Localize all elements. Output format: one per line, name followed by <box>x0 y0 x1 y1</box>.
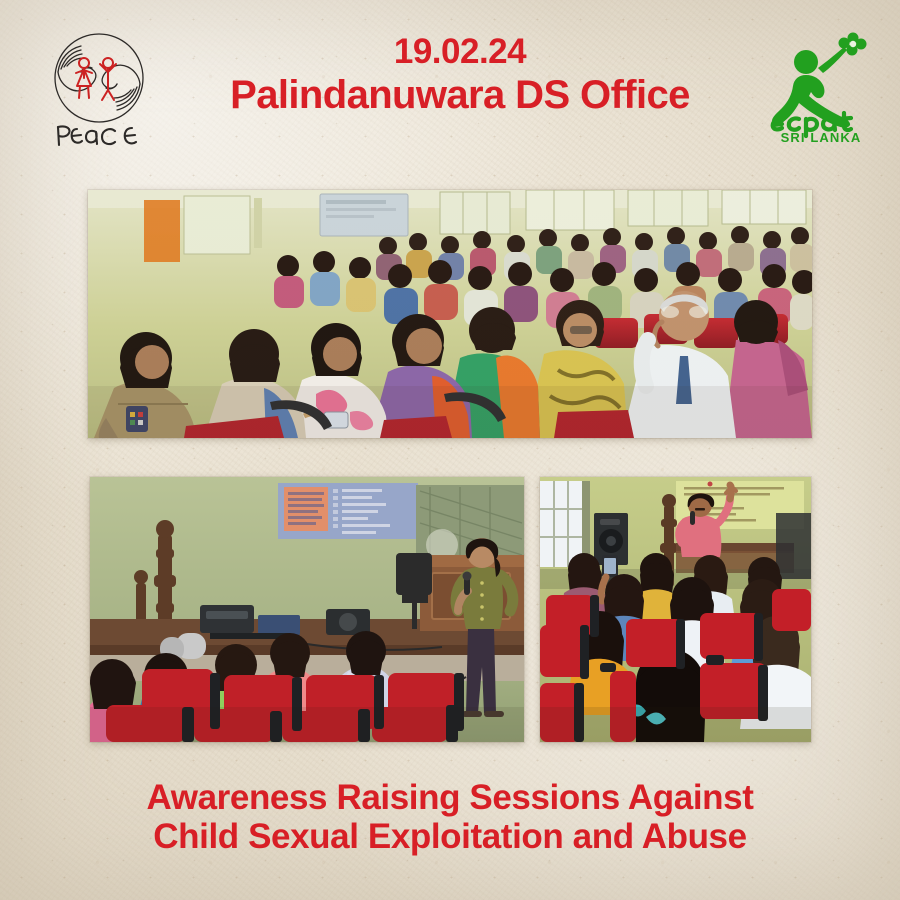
poster-title-block: 19.02.24 Palindanuwara DS Office <box>180 34 740 115</box>
photo-speaker-female <box>90 477 524 742</box>
event-venue: Palindanuwara DS Office <box>180 75 740 115</box>
ecpat-logo-subtitle: SRI LANKA <box>781 130 862 144</box>
photo-speaker-male <box>540 477 811 742</box>
poster-canvas: PEACE 19.02.24 Palindanuwara DS Office <box>0 0 900 900</box>
photo-audience-wide <box>88 190 812 438</box>
ecpat-logo: SRI LANKA ecpat SRI LANKA <box>768 26 874 144</box>
event-date: 19.02.24 <box>180 34 740 69</box>
poster-caption: Awareness Raising Sessions Against Child… <box>0 778 900 856</box>
poster-header: PEACE 19.02.24 Palindanuwara DS Office <box>0 0 900 178</box>
caption-line-2: Child Sexual Exploitation and Abuse <box>0 817 900 856</box>
caption-line-1: Awareness Raising Sessions Against <box>0 778 900 817</box>
peace-logo: PEACE <box>36 28 162 150</box>
